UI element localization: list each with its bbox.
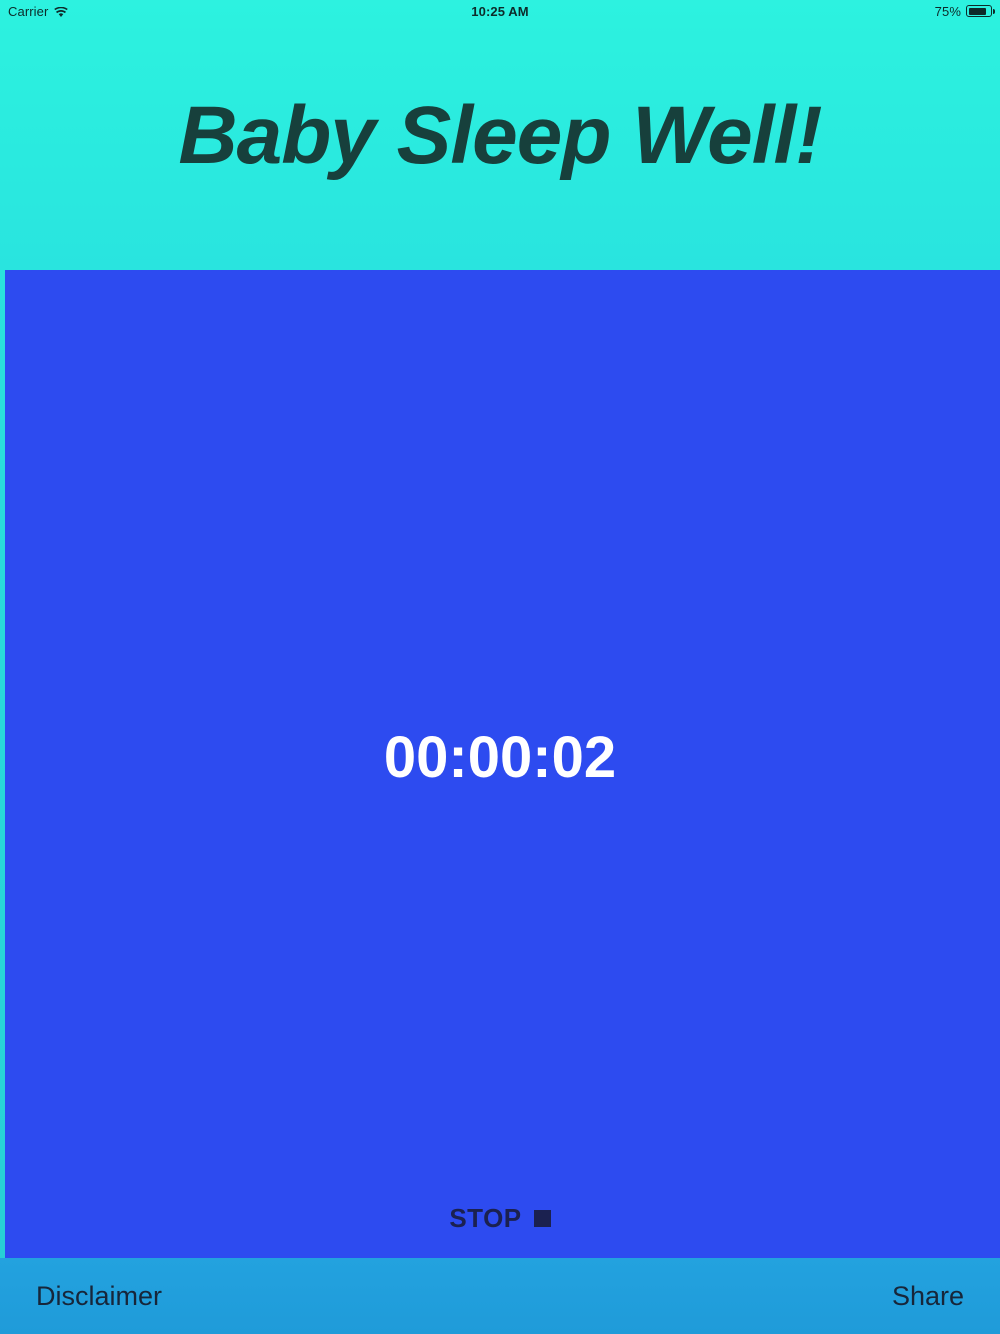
timer-display: 00:00:02	[384, 729, 616, 787]
left-edge-accent	[0, 270, 5, 1258]
disclaimer-button[interactable]: Disclaimer	[36, 1283, 162, 1310]
stop-button[interactable]: STOP	[0, 1203, 1000, 1234]
share-button[interactable]: Share	[892, 1283, 964, 1310]
status-bar-right: 75%	[935, 4, 992, 19]
app-root: Carrier 10:25 AM 75% Baby Sleep Well! 00…	[0, 0, 1000, 1334]
carrier-label: Carrier	[8, 4, 48, 19]
status-bar-clock: 10:25 AM	[0, 0, 1000, 22]
bottom-toolbar: Disclaimer Share	[0, 1258, 1000, 1334]
battery-icon	[966, 5, 992, 17]
battery-percent-label: 75%	[935, 4, 961, 19]
status-bar-left: Carrier	[8, 4, 68, 19]
wifi-icon	[54, 6, 68, 17]
stop-button-label: STOP	[449, 1203, 521, 1234]
status-bar: Carrier 10:25 AM 75%	[0, 0, 1000, 22]
page-title: Baby Sleep Well!	[178, 95, 821, 177]
timer-stage[interactable]: 00:00:02 STOP	[0, 270, 1000, 1258]
battery-fill	[969, 8, 986, 15]
app-header: Baby Sleep Well!	[0, 22, 1000, 270]
stop-square-icon	[534, 1210, 551, 1227]
